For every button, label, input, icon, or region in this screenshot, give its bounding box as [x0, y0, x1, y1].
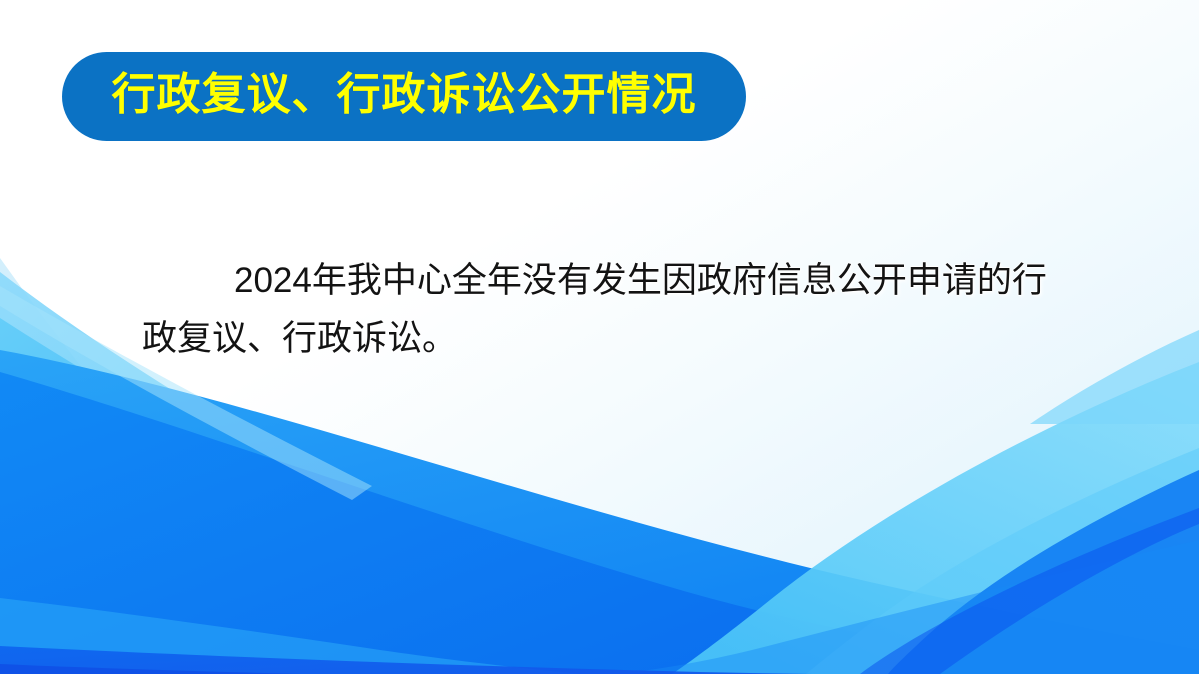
page-title: 行政复议、行政诉讼公开情况	[112, 73, 697, 117]
presentation-slide: 行政复议、行政诉讼公开情况 2024年我中心全年没有发生因政府信息公开申请的行 …	[0, 0, 1199, 674]
body-paragraph: 2024年我中心全年没有发生因政府信息公开申请的行 政复议、行政诉讼。	[142, 252, 1062, 368]
body-line-2: 政复议、行政诉讼。	[142, 310, 1062, 368]
body-line-1: 2024年我中心全年没有发生因政府信息公开申请的行	[142, 252, 1062, 310]
slide-title-pill: 行政复议、行政诉讼公开情况	[62, 52, 746, 141]
